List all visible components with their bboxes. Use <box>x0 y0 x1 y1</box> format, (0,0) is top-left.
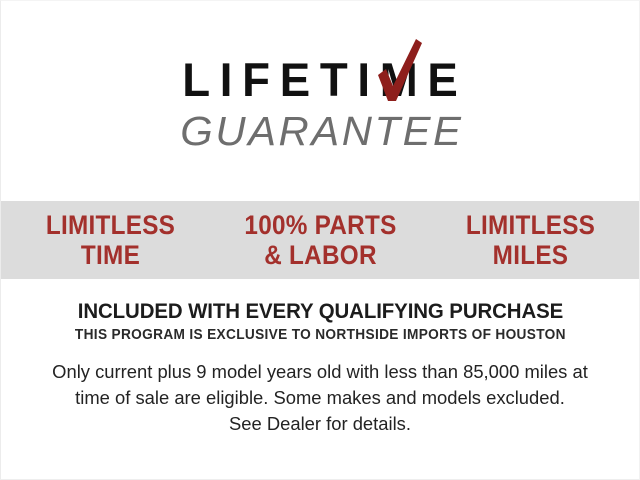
fine-print-line: Only current plus 9 model years old with… <box>40 359 600 385</box>
feature-column-limitless-miles: LIMITLESS MILES <box>438 210 623 271</box>
logo-guarantee-text: GUARANTEE <box>177 111 463 152</box>
feature-line-2: TIME <box>18 240 203 271</box>
fine-print-line: See Dealer for details. <box>40 411 600 437</box>
disclosure-headline: INCLUDED WITH EVERY QUALIFYING PURCHASE <box>77 299 562 323</box>
fine-print-line: time of sale are eligible. Some makes an… <box>40 385 600 411</box>
feature-line-1: 100% PARTS <box>223 210 417 241</box>
feature-column-parts-labor: 100% PARTS & LABOR <box>223 210 417 271</box>
feature-line-2: & LABOR <box>223 240 417 271</box>
feature-column-limitless-time: LIMITLESS TIME <box>18 210 203 271</box>
feature-band: LIMITLESS TIME 100% PARTS & LABOR LIMITL… <box>1 201 639 279</box>
feature-line-2: MILES <box>438 240 623 271</box>
disclosure-block: INCLUDED WITH EVERY QUALIFYING PURCHASE … <box>1 279 639 479</box>
logo-wordmark: LIFETIME <box>168 56 472 103</box>
logo-lifetime-text: LIFETIME <box>173 56 468 103</box>
fine-print: Only current plus 9 model years old with… <box>40 359 600 437</box>
feature-line-1: LIMITLESS <box>18 210 203 241</box>
disclosure-subheadline: THIS PROGRAM IS EXCLUSIVE TO NORTHSIDE I… <box>75 328 566 344</box>
lifetime-guarantee-banner: LIFETIME GUARANTEE LIMITLESS TIME 100% P… <box>0 0 640 480</box>
feature-line-1: LIMITLESS <box>438 210 623 241</box>
logo-block: LIFETIME GUARANTEE <box>1 1 639 201</box>
